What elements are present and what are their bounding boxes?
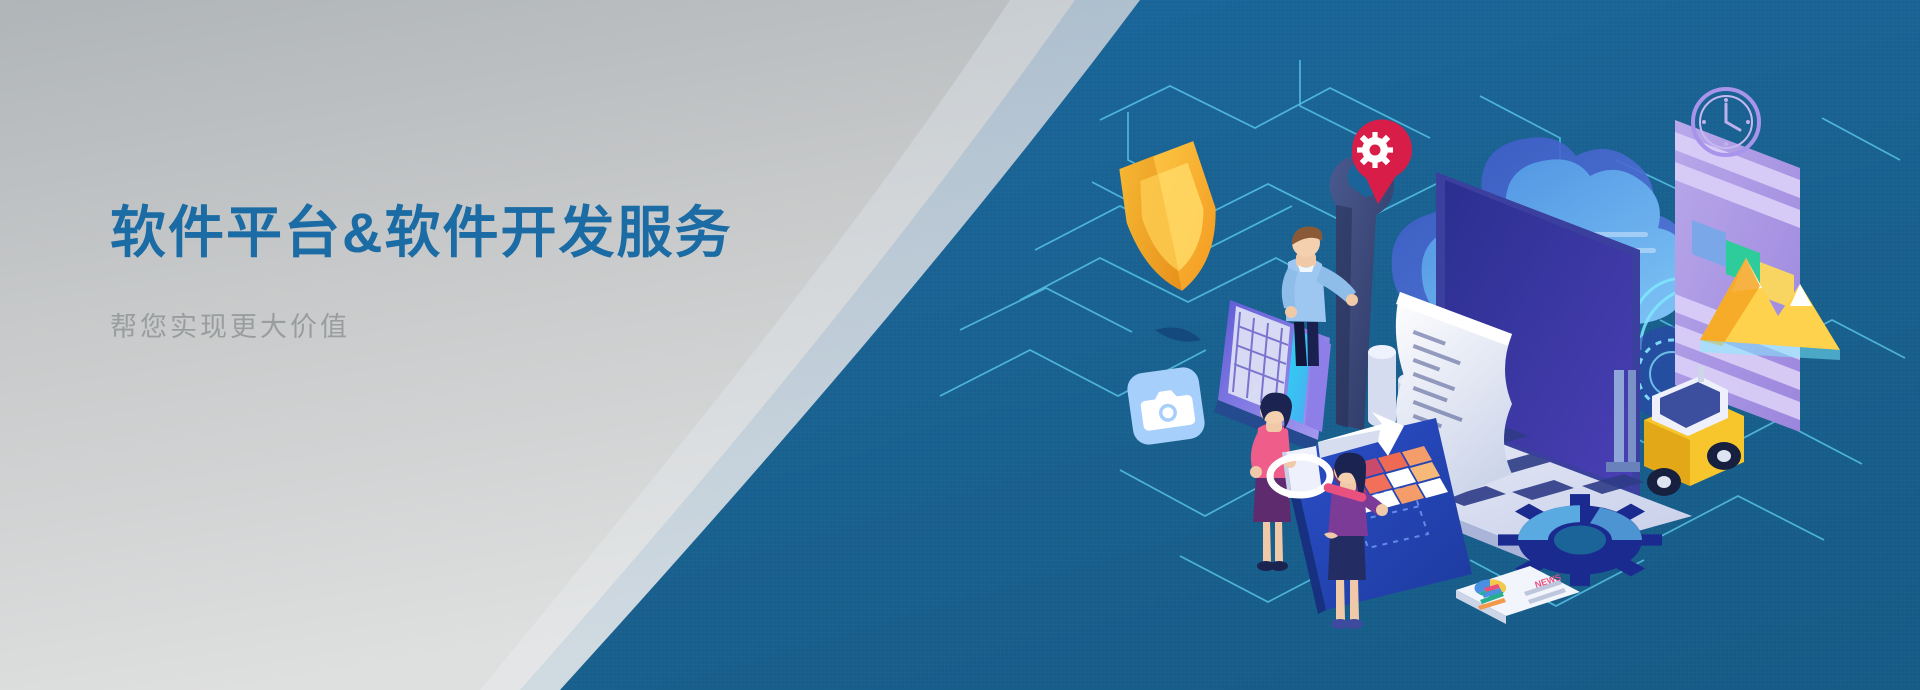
shield-icon [1113,139,1231,299]
hero-text-block: 软件平台&软件开发服务 帮您实现更大价值 [110,200,890,345]
page-subtitle: 帮您实现更大价值 [110,310,890,345]
hero-banner: NEWS [0,0,1920,690]
clock-icon [1693,89,1759,155]
news-card: NEWS [1456,566,1580,624]
page-title: 软件平台&软件开发服务 [110,200,890,266]
camera-icon [1125,328,1206,447]
